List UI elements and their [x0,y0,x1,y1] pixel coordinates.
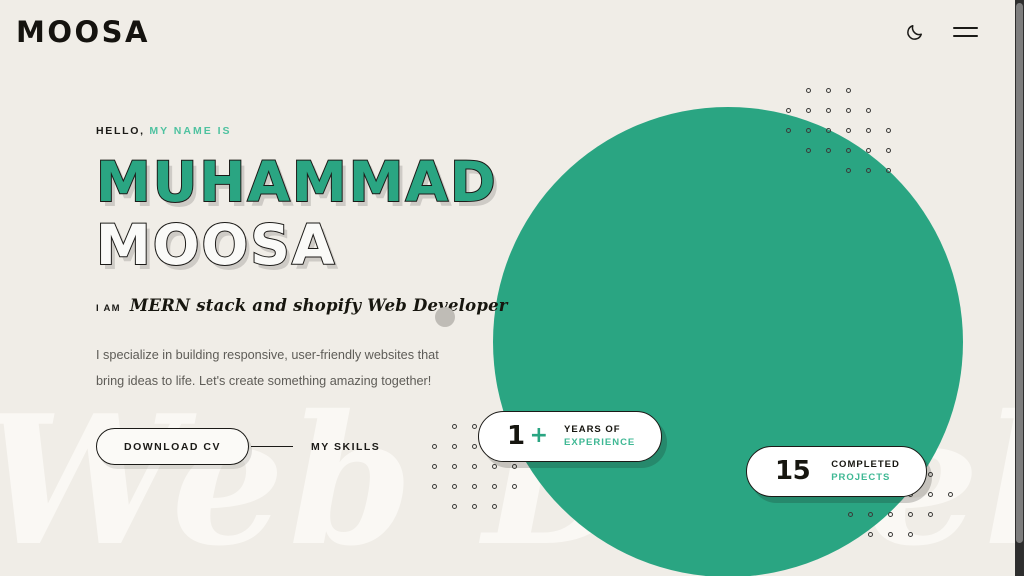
decor-dot [806,148,811,153]
decor-dot [886,148,891,153]
my-skills-link[interactable]: MY SKILLS [311,441,380,453]
decor-dot [948,492,953,497]
page-scrollbar-thumb[interactable] [1016,3,1023,543]
decor-dot [868,512,873,517]
decor-dot [846,108,851,113]
decor-dot [786,108,791,113]
decor-dot [826,148,831,153]
decor-dot [866,168,871,173]
hero-description: I specialize in building responsive, use… [96,343,441,394]
decor-dot [908,532,913,537]
hero-role-prefix: I AM [96,303,121,314]
header-actions [901,19,978,45]
decor-dot [786,128,791,133]
decor-dot [886,128,891,133]
decor-dot [888,512,893,517]
stat-experience-label-top: YEARS OF [564,423,635,436]
page-scrollbar-track[interactable] [1015,0,1024,576]
decor-dot [452,504,457,509]
hamburger-line [953,35,978,37]
decor-dot [928,492,933,497]
decor-dot [848,512,853,517]
hamburger-menu-icon[interactable] [953,27,978,37]
decor-dot [928,512,933,517]
hamburger-line [953,27,978,29]
dot-grid-top-right [786,88,898,180]
hero-section: HELLO, MY NAME IS MUHAMMAD MOOSA I AM ME… [96,125,526,465]
decor-dot [492,504,497,509]
stat-experience-label-bottom: EXPERIENCE [564,436,635,449]
decor-dot [826,88,831,93]
hero-eyebrow-prefix: HELLO, [96,125,145,137]
decor-dot [868,532,873,537]
decor-dot [432,484,437,489]
decor-dot [866,148,871,153]
decor-dot [846,168,851,173]
stat-projects-label-top: COMPLETED [831,458,900,471]
hero-eyebrow: HELLO, MY NAME IS [96,125,526,137]
decor-dot [908,512,913,517]
site-header: MOOSA [0,0,1016,64]
brand-logo[interactable]: MOOSA [16,15,150,49]
decor-dot [472,484,477,489]
decor-dot [866,108,871,113]
decor-dot [826,128,831,133]
decor-dot [888,532,893,537]
decor-dot [928,472,933,477]
download-cv-button[interactable]: DOWNLOAD CV [96,428,249,465]
stat-badge-experience[interactable]: 1 + YEARS OF EXPERIENCE [478,411,662,462]
decor-dot [866,128,871,133]
stat-experience-label: YEARS OF EXPERIENCE [564,423,635,450]
decor-dot [806,88,811,93]
decor-dot [452,484,457,489]
decor-dot [492,484,497,489]
hero-cta-row: DOWNLOAD CV MY SKILLS [96,428,526,465]
hero-role-line: I AM MERN stack and shopify Web Develope… [96,296,526,315]
hero-eyebrow-accent: MY NAME IS [149,125,231,137]
decor-dot [886,168,891,173]
hero-last-name: MOOSA [96,217,526,274]
gray-dot-accent [435,307,455,327]
stat-projects-label: COMPLETED PROJECTS [831,458,900,485]
stat-projects-label-bottom: PROJECTS [831,471,900,484]
hero-first-name: MUHAMMAD [96,154,526,211]
page-root: Web Developer MOOSA HELLO, MY NAME IS MU… [0,0,1024,576]
decor-dot [846,128,851,133]
stat-badge-projects[interactable]: 15 COMPLETED PROJECTS [746,446,927,497]
decor-dot [806,128,811,133]
stat-experience-suffix: + [530,425,548,447]
decor-dot [826,108,831,113]
decor-dot [806,108,811,113]
decor-dot [472,504,477,509]
moon-icon[interactable] [901,19,927,45]
decor-dot [846,148,851,153]
decor-dot [846,88,851,93]
stat-experience-number: 1 [507,423,525,449]
cta-connector-line [251,446,293,448]
decor-dot [512,484,517,489]
stat-projects-number: 15 [775,458,810,484]
